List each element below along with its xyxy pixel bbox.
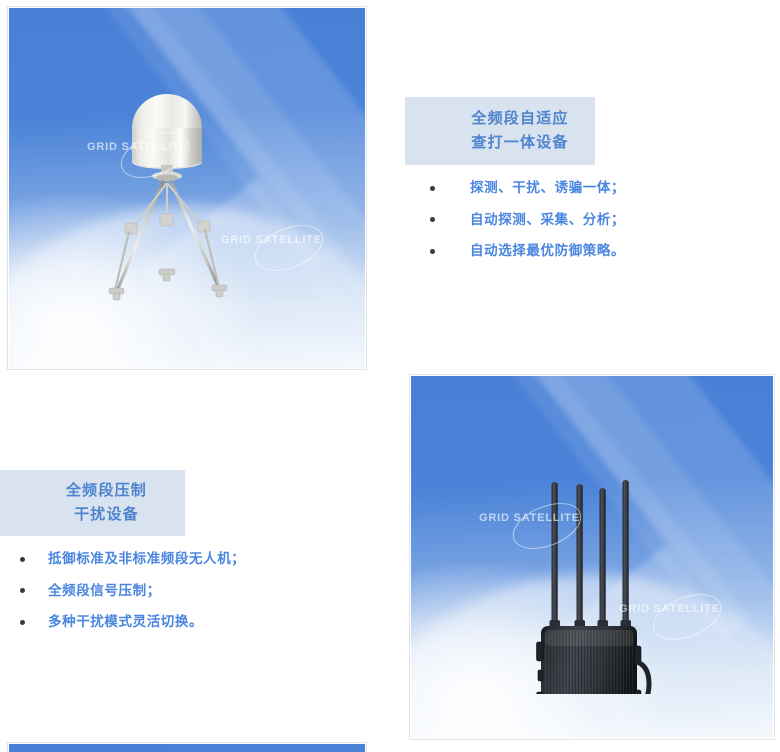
- product-image-card-next-partial[interactable]: [7, 742, 367, 752]
- portable-jammer-illustration: [536, 434, 656, 694]
- photo-backdrop: [9, 744, 365, 752]
- feature-text: 自动选择最优防御策略。: [470, 244, 625, 258]
- product-image-card-jammer[interactable]: GRID SATELLITE GRID SATELLITE: [409, 374, 775, 740]
- product-image-card-antenna[interactable]: GRID SATELLITE GRID SATELLITE: [7, 6, 367, 370]
- feature-list-detection-device: 探测、干扰、诱骗一体； 自动探测、采集、分析； 自动选择最优防御策略。: [405, 181, 745, 258]
- bullet-icon: [20, 620, 25, 625]
- list-item: 探测、干扰、诱骗一体；: [430, 181, 745, 195]
- feature-block-suppression-jammer: 全频段压制 干扰设备 抵御标准及非标准频段无人机； 全频段信号压制； 多种干扰模…: [0, 470, 340, 629]
- bullet-icon: [20, 557, 25, 562]
- next-product-photo: [9, 744, 365, 752]
- heading-line-2: 查打一体设备: [471, 131, 568, 155]
- bullet-icon: [430, 186, 435, 191]
- feature-list-suppression-jammer: 抵御标准及非标准频段无人机； 全频段信号压制； 多种干扰模式灵活切换。: [0, 552, 340, 629]
- tripod-antenna-illustration: [97, 66, 297, 326]
- feature-text: 抵御标准及非标准频段无人机；: [48, 552, 245, 566]
- feature-text: 探测、干扰、诱骗一体；: [470, 181, 625, 195]
- feature-text: 全频段信号压制；: [48, 584, 161, 598]
- watermark-grid-satellite: GRID SATELLITE: [479, 512, 580, 524]
- heading-line-1: 全频段自适应: [471, 107, 568, 131]
- jammer-photo: GRID SATELLITE GRID SATELLITE: [411, 376, 773, 738]
- bullet-icon: [20, 588, 25, 593]
- watermark-grid-satellite: GRID SATELLITE: [221, 234, 322, 246]
- heading-line-1: 全频段压制: [66, 479, 147, 503]
- feature-text: 多种干扰模式灵活切换。: [48, 615, 203, 629]
- feature-text: 自动探测、采集、分析；: [470, 213, 625, 227]
- bullet-icon: [430, 217, 435, 222]
- list-item: 自动选择最优防御策略。: [430, 244, 745, 258]
- list-item: 自动探测、采集、分析；: [430, 213, 745, 227]
- watermark-grid-satellite: GRID SATELLITE: [87, 141, 188, 153]
- antenna-photo: GRID SATELLITE GRID SATELLITE: [9, 8, 365, 368]
- heading-band-detection-device: 全频段自适应 查打一体设备: [405, 97, 595, 165]
- heading-line-2: 干扰设备: [74, 503, 139, 527]
- heading-band-suppression-jammer: 全频段压制 干扰设备: [0, 470, 185, 536]
- list-item: 多种干扰模式灵活切换。: [20, 615, 340, 629]
- feature-block-detection-device: 全频段自适应 查打一体设备 探测、干扰、诱骗一体； 自动探测、采集、分析； 自动…: [405, 97, 745, 258]
- product-feature-page: GRID SATELLITE GRID SATELLITE 全频段自适应 查打一…: [0, 0, 780, 752]
- bullet-icon: [430, 249, 435, 254]
- list-item: 抵御标准及非标准频段无人机；: [20, 552, 340, 566]
- watermark-grid-satellite: GRID SATELLITE: [619, 603, 720, 615]
- list-item: 全频段信号压制；: [20, 584, 340, 598]
